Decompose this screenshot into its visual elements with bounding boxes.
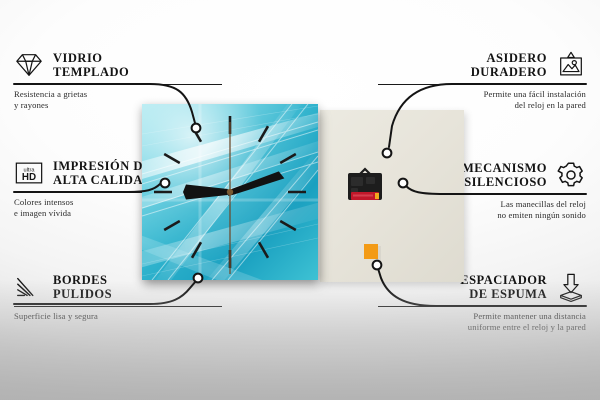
feature-description-line1: Permite una fácil instalación <box>378 89 586 100</box>
feature-title-line1: ESPACIADOR <box>460 273 547 288</box>
feature-title-line2: ALTA CALIDAD <box>53 173 152 188</box>
feature-durable-hanger: ASIDERO DURADERO Permite una fácil insta… <box>378 50 586 111</box>
clock-face <box>142 104 318 280</box>
feature-header: ASIDERO DURADERO <box>378 50 586 80</box>
feature-divider <box>14 84 222 85</box>
gear-icon <box>556 160 586 190</box>
clock-back-panel <box>320 110 464 282</box>
feature-divider <box>378 84 586 85</box>
feature-description-line1: Permite mantener una distancia <box>378 311 586 322</box>
polished-edges-icon <box>14 272 44 302</box>
feature-title: IMPRESIÓN DE ALTA CALIDAD <box>53 159 152 188</box>
foam-spacer-pad <box>364 244 381 262</box>
foam-spacer-face <box>364 244 378 259</box>
svg-text:HD: HD <box>22 172 36 183</box>
feature-title: ESPACIADOR DE ESPUMA <box>460 273 547 302</box>
feature-divider <box>14 306 222 307</box>
diamond-icon <box>14 50 44 80</box>
feature-title-line1: IMPRESIÓN DE <box>53 159 152 174</box>
feature-title-line2: PULIDOS <box>53 287 112 302</box>
ultra-hd-icon: ultra HD <box>14 158 44 188</box>
feature-title-line2: DE ESPUMA <box>460 287 547 302</box>
picture-frame-hanger-icon <box>556 50 586 80</box>
feature-tempered-glass: VIDRIO TEMPLADO Resistencia a grietas y … <box>14 50 222 111</box>
feature-title-line2: DURADERO <box>471 65 547 80</box>
feature-title-line1: ASIDERO <box>471 51 547 66</box>
feature-title-line2: SILENCIOSO <box>462 175 547 190</box>
hand-hub <box>227 189 233 195</box>
feature-description-line1: Superficie lisa y segura <box>14 311 222 322</box>
second-hand <box>229 122 230 274</box>
arrow-down-pad-icon <box>556 272 586 302</box>
feature-description-line1: Resistencia a grietas <box>14 89 222 100</box>
feature-title: MECANISMO SILENCIOSO <box>462 161 547 190</box>
feature-title: BORDES PULIDOS <box>53 273 112 302</box>
feature-title: ASIDERO DURADERO <box>471 51 547 80</box>
product-photo <box>142 104 466 286</box>
feature-description-line2: uniforme entre el reloj y la pared <box>378 322 586 333</box>
clock-mechanism <box>344 166 386 206</box>
infographic-canvas: VIDRIO TEMPLADO Resistencia a grietas y … <box>0 0 600 400</box>
feature-description: Permite mantener una distancia uniforme … <box>378 311 586 333</box>
feature-header: VIDRIO TEMPLADO <box>14 50 222 80</box>
wall-clock <box>142 104 318 280</box>
feature-title-line1: BORDES <box>53 273 112 288</box>
feature-title-line1: VIDRIO <box>53 51 129 66</box>
feature-title-line2: TEMPLADO <box>53 65 129 80</box>
feature-title-line1: MECANISMO <box>462 161 547 176</box>
feature-description: Superficie lisa y segura <box>14 311 222 322</box>
feature-divider <box>378 306 586 307</box>
feature-title: VIDRIO TEMPLADO <box>53 51 129 80</box>
